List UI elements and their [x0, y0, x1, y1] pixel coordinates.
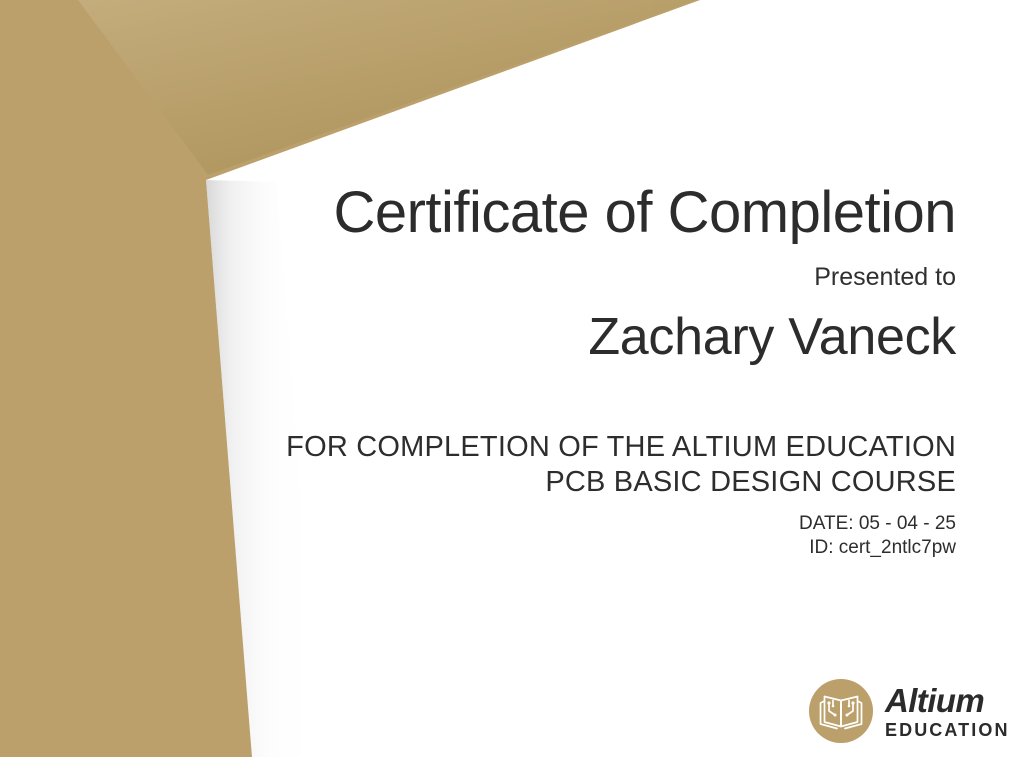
- page-title: Certificate of Completion: [333, 184, 956, 242]
- certificate-document: Certificate of Completion Presented to Z…: [0, 0, 1024, 757]
- certificate-id: ID: cert_2ntlc7pw: [799, 536, 956, 560]
- presented-to-label: Presented to: [814, 265, 956, 290]
- recipient-name: Zachary Vaneck: [588, 311, 956, 363]
- certificate-content: Certificate of Completion Presented to Z…: [0, 0, 1024, 757]
- brand-subtitle: EDUCATION: [885, 721, 1010, 739]
- altium-education-logo: Altium EDUCATION: [808, 678, 1010, 744]
- course-line-1: FOR COMPLETION OF THE ALTIUM EDUCATION: [286, 430, 956, 465]
- course-line-2: PCB BASIC DESIGN COURSE: [286, 465, 956, 500]
- issue-date: DATE: 05 - 04 - 25: [799, 512, 956, 536]
- logo-wordmark: Altium EDUCATION: [885, 684, 1010, 739]
- brand-name: Altium: [885, 684, 1010, 717]
- certificate-metadata: DATE: 05 - 04 - 25 ID: cert_2ntlc7pw: [799, 512, 956, 560]
- course-description: FOR COMPLETION OF THE ALTIUM EDUCATION P…: [286, 430, 956, 501]
- open-book-icon: [808, 678, 874, 744]
